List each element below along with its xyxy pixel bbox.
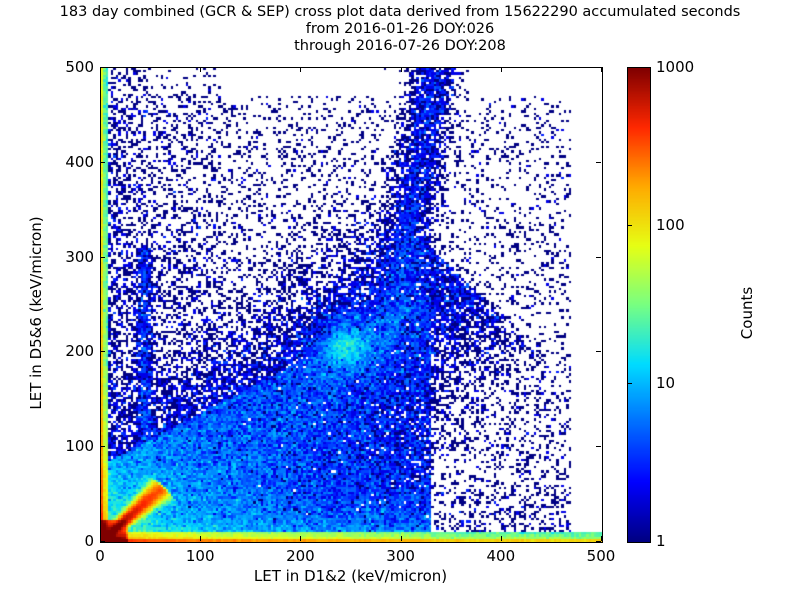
x-tick-bottom-400	[501, 536, 502, 541]
y-tick-left-400	[100, 162, 105, 163]
chart-title-line-1: 183 day combined (GCR & SEP) cross plot …	[0, 4, 800, 21]
y-tick-left-0	[100, 541, 105, 542]
y-tick-right-400	[596, 162, 601, 163]
density-plot-canvas	[101, 68, 602, 542]
x-tick-bottom-200	[300, 536, 301, 541]
x-tick-label-300: 300	[386, 547, 415, 565]
x-tick-top-500	[601, 67, 602, 72]
x-tick-label-200: 200	[286, 547, 315, 565]
x-tick-top-300	[401, 67, 402, 72]
x-tick-top-400	[501, 67, 502, 72]
colorbar-tick-100	[627, 225, 632, 226]
chart-title-line-3: through 2016-07-26 DOY:208	[0, 38, 800, 55]
y-axis-label: LET in D5&6 (keV/micron)	[27, 163, 45, 463]
x-tick-bottom-500	[601, 536, 602, 541]
y-tick-right-0	[596, 541, 601, 542]
x-tick-top-100	[200, 67, 201, 72]
x-tick-top-200	[300, 67, 301, 72]
y-tick-right-200	[596, 351, 601, 352]
colorbar-gradient	[628, 68, 650, 542]
plot-area	[100, 67, 603, 543]
x-tick-label-500: 500	[587, 547, 616, 565]
y-tick-label-500: 500	[36, 58, 94, 76]
x-tick-bottom-100	[200, 536, 201, 541]
chart-title-line-2: from 2016-01-26 DOY:026	[0, 21, 800, 38]
y-tick-left-200	[100, 351, 105, 352]
chart-title: 183 day combined (GCR & SEP) cross plot …	[0, 4, 800, 55]
colorbar-tick-10	[627, 383, 632, 384]
y-tick-label-0: 0	[36, 532, 94, 550]
x-tick-label-100: 100	[186, 547, 215, 565]
y-tick-right-100	[596, 446, 601, 447]
x-tick-label-0: 0	[95, 547, 105, 565]
colorbar-tick-label-1: 1	[656, 532, 666, 550]
colorbar-label: Counts	[738, 183, 756, 443]
colorbar-tick-label-100: 100	[656, 216, 685, 234]
x-axis-label: LET in D1&2 (keV/micron)	[0, 567, 701, 585]
y-tick-left-100	[100, 446, 105, 447]
y-tick-left-300	[100, 257, 105, 258]
colorbar-tick-label-1000: 1000	[656, 58, 694, 76]
y-tick-right-500	[596, 67, 601, 68]
colorbar-tick-label-10: 10	[656, 374, 675, 392]
x-tick-bottom-300	[401, 536, 402, 541]
x-tick-label-400: 400	[486, 547, 515, 565]
y-tick-left-500	[100, 67, 105, 68]
y-tick-right-300	[596, 257, 601, 258]
colorbar	[627, 67, 651, 543]
